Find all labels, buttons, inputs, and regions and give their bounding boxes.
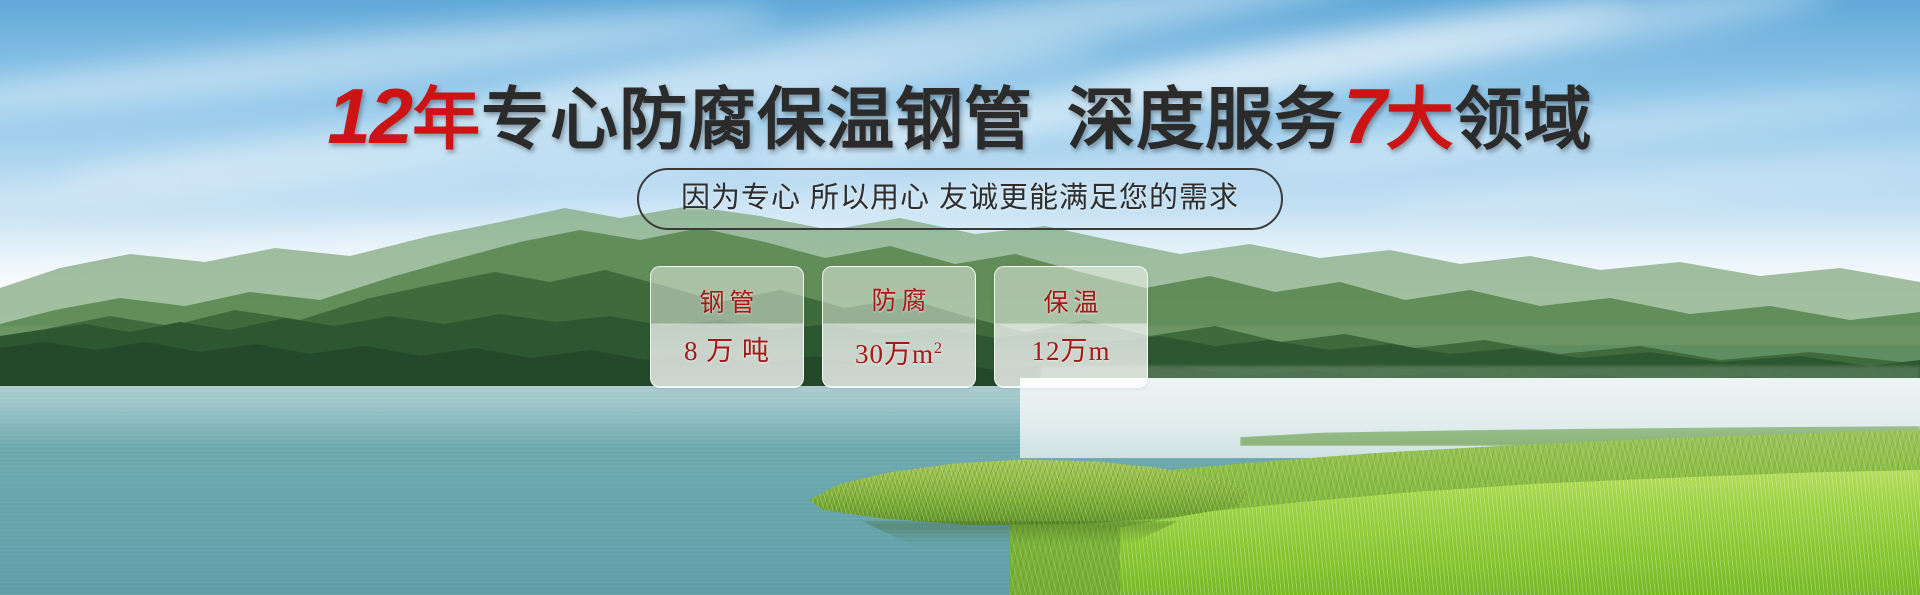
headline-years-unit: 年 (412, 82, 481, 158)
stat-card-value: 8 万 吨 (684, 336, 770, 366)
headline-areas-number: 7 (1343, 72, 1385, 160)
headline-areas-unit: 大 (1386, 82, 1455, 158)
stat-card-title: 保温 (1038, 288, 1103, 318)
stat-card-value-base: 8 万 吨 (684, 336, 770, 366)
stat-card-insulation: 保温 12万m (994, 266, 1148, 388)
stat-card-title: 防腐 (866, 286, 931, 316)
headline: 12年专心防腐保温钢管深度服务7大领域 (0, 82, 1920, 154)
subtitle-pill: 因为专心 所以用心 友诚更能满足您的需求 (637, 168, 1283, 230)
promo-banner: 12年专心防腐保温钢管深度服务7大领域 因为专心 所以用心 友诚更能满足您的需求… (0, 0, 1920, 595)
headline-years-number: 12 (327, 72, 412, 160)
stat-card-group: 钢管 8 万 吨 防腐 30万m2 保温 12万m (650, 266, 1148, 388)
stat-card-value-base: 12万m (1031, 336, 1110, 366)
stat-card-value: 30万m2 (855, 334, 943, 369)
island-texture (800, 455, 1250, 527)
stat-card-anticorrosion: 防腐 30万m2 (822, 266, 976, 388)
stat-card-value: 12万m (1031, 336, 1110, 366)
grass-island (800, 455, 1250, 547)
headline-segment-three: 领域 (1455, 82, 1593, 158)
island-reflection (840, 521, 1200, 545)
stat-card-steel-pipe: 钢管 8 万 吨 (650, 266, 804, 388)
stat-card-title: 钢管 (694, 288, 759, 318)
headline-segment-two: 深度服务 (1067, 82, 1343, 158)
subtitle-container: 因为专心 所以用心 友诚更能满足您的需求 (0, 168, 1920, 230)
stat-card-value-base: 30万m (855, 339, 934, 369)
headline-segment-one: 专心防腐保温钢管 (481, 82, 1033, 158)
stat-card-value-superscript: 2 (934, 340, 943, 357)
